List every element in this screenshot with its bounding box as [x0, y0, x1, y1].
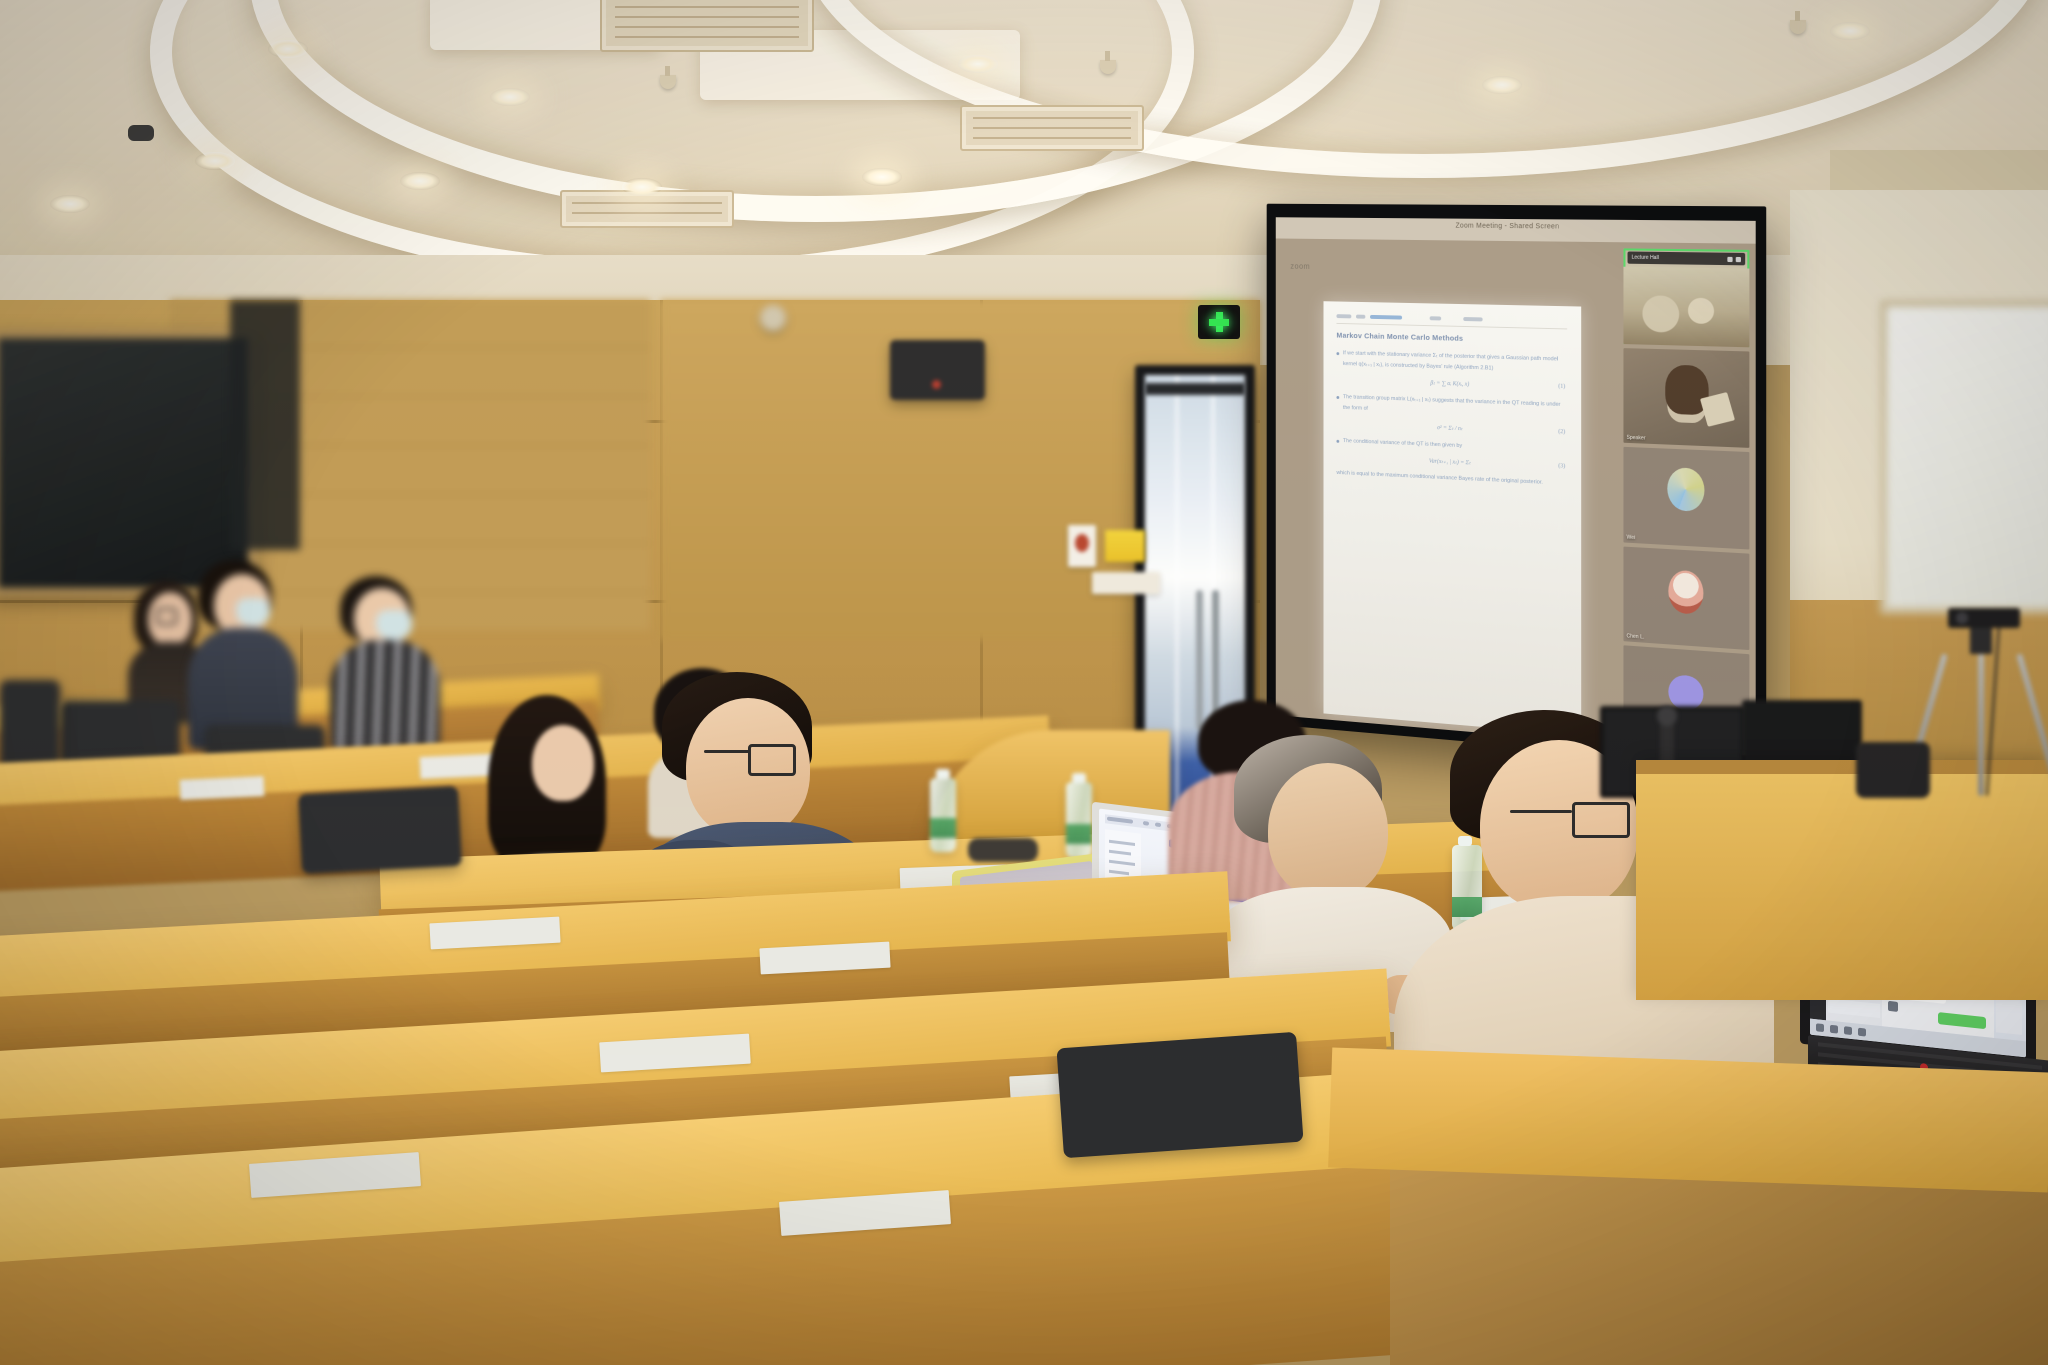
chair: [298, 786, 462, 874]
ceiling-downlight: [268, 40, 308, 58]
person-back-masked-striped: [330, 576, 440, 752]
avatar: [1667, 468, 1704, 513]
desk-dark-object: [968, 838, 1038, 862]
zoom-participant-tile[interactable]: Wei: [1623, 447, 1749, 549]
ceiling-downlight: [1830, 22, 1870, 40]
bullet-text: The transition group matrix L(xₜ₊₁ | xₜ)…: [1343, 392, 1567, 422]
tripod-camera: [1930, 608, 2048, 798]
equation-number: (1): [1558, 383, 1565, 389]
toolbar-chip[interactable]: [1430, 316, 1441, 320]
head: [532, 725, 594, 801]
glasses-temple: [1510, 810, 1572, 813]
wall-dark-panel: [230, 300, 300, 550]
equipment-bag: [1856, 742, 1930, 798]
head: [1268, 763, 1388, 899]
person-back-masked-navy: [188, 560, 298, 750]
exit-sign-icon: [1198, 305, 1240, 339]
bullet-dot: [1336, 439, 1339, 442]
bullet-dot: [1336, 352, 1339, 355]
document-bullet: The transition group matrix L(xₜ₊₁ | xₜ)…: [1336, 392, 1567, 422]
projected-image: Zoom Meeting - Shared Screen zoom Markov…: [1276, 217, 1756, 756]
document-bullet: The conditional variance of the QT is th…: [1336, 436, 1567, 457]
whiteboard: [1880, 300, 2048, 614]
ceiling-downlight: [622, 178, 662, 196]
room-camera-feed: [1623, 267, 1749, 347]
document-heading: Markov Chain Monte Carlo Methods: [1336, 331, 1567, 346]
camera-icon: [1948, 608, 2020, 628]
zoom-participant-name: Chen L.: [1627, 634, 1645, 641]
zoom-participant-name: Wei: [1627, 534, 1636, 541]
equation-2: σ² = Σₜ / nₜ (2): [1336, 420, 1567, 436]
desk-paper: [180, 776, 265, 800]
avatar: [1668, 570, 1703, 615]
zoom-participant-name: Speaker: [1627, 435, 1646, 442]
door-top-bar: [1145, 383, 1245, 395]
remote-device: [1700, 392, 1735, 427]
ceiling-downlight: [1482, 76, 1522, 94]
equation-body: σ² = Σₜ / nₜ: [1437, 425, 1463, 432]
zoom-tile-toolbar: Lecture Hall: [1628, 251, 1746, 265]
bullet-text: If we start with the stationary variance…: [1343, 348, 1567, 376]
dome-camera-icon: [760, 305, 786, 331]
ceiling-downlight: [400, 172, 440, 190]
air-vent: [960, 105, 1144, 151]
bullet-text: The conditional variance of the QT is th…: [1343, 436, 1462, 452]
no-smoking-notice: [1068, 525, 1096, 567]
document-bullet: If we start with the stationary variance…: [1336, 348, 1567, 376]
equation-1: βₜ = ∑ αᵢ K(xᵢ, x) (1): [1336, 376, 1567, 391]
ceiling-downlight: [490, 88, 530, 106]
equation-body: Var(xₜ₊₁ | xₜ) = Σₜ: [1429, 458, 1471, 466]
water-bottle[interactable]: [930, 778, 956, 852]
safety-notice: [1105, 530, 1145, 562]
zoom-participant-tile[interactable]: Speaker: [1623, 348, 1749, 448]
chair: [1056, 1032, 1303, 1158]
toolbar-chip[interactable]: [1463, 317, 1482, 321]
zoom-window-title: Zoom Meeting - Shared Screen: [1456, 223, 1560, 231]
water-bottle[interactable]: [1066, 782, 1092, 858]
document-toolbar[interactable]: [1336, 309, 1567, 329]
glasses-temple: [704, 750, 750, 753]
air-vent: [600, 0, 814, 52]
document-closing-note: which is equal to the maximum conditiona…: [1336, 468, 1567, 490]
glasses-icon: [1572, 802, 1630, 838]
face-mask: [236, 598, 270, 626]
torso: [330, 640, 440, 752]
glasses-icon: [156, 608, 177, 625]
toolbar-chip[interactable]: [1356, 315, 1365, 319]
ceiling-downlight: [50, 195, 90, 213]
ceiling-downlight: [195, 152, 235, 170]
face-mask: [376, 610, 412, 640]
zoom-participant-tile[interactable]: Lecture Hall: [1623, 248, 1749, 347]
zoom-app-label: zoom: [1290, 262, 1310, 271]
toolbar-chip[interactable]: [1370, 315, 1402, 320]
ceiling-downlight: [862, 168, 902, 186]
bullet-dot: [1336, 396, 1339, 399]
equation-3: Var(xₜ₊₁ | xₜ) = Σₜ (3): [1336, 453, 1567, 470]
glasses-icon: [748, 744, 796, 776]
info-placard: [1092, 572, 1160, 594]
zoom-tile-controls[interactable]: [1727, 256, 1741, 261]
wall-loudspeaker: [890, 340, 985, 400]
ceiling-dome-camera: [128, 125, 154, 141]
zoom-window-titlebar: Zoom Meeting - Shared Screen: [1276, 217, 1756, 243]
shared-document: Markov Chain Monte Carlo Methods If we s…: [1323, 301, 1581, 735]
equation-number: (2): [1558, 429, 1565, 435]
desk-right-foreground: [1328, 1047, 2048, 1192]
zoom-participant-name: Lecture Hall: [1632, 255, 1659, 261]
zoom-participant-tile[interactable]: Chen L.: [1623, 546, 1749, 650]
equation-body: βₜ = ∑ αᵢ K(xᵢ, x): [1430, 380, 1469, 387]
projection-screen: Zoom Meeting - Shared Screen zoom Markov…: [1267, 204, 1767, 768]
zoom-participant-strip: Lecture Hall Speaker Wei Chen L.: [1623, 248, 1749, 751]
lecture-hall-photo: Zoom Meeting - Shared Screen zoom Markov…: [0, 0, 2048, 1365]
ceiling-downlight: [958, 55, 998, 73]
toolbar-chip[interactable]: [1336, 314, 1351, 318]
blackboard: [0, 330, 256, 596]
equation-number: (3): [1558, 463, 1565, 469]
